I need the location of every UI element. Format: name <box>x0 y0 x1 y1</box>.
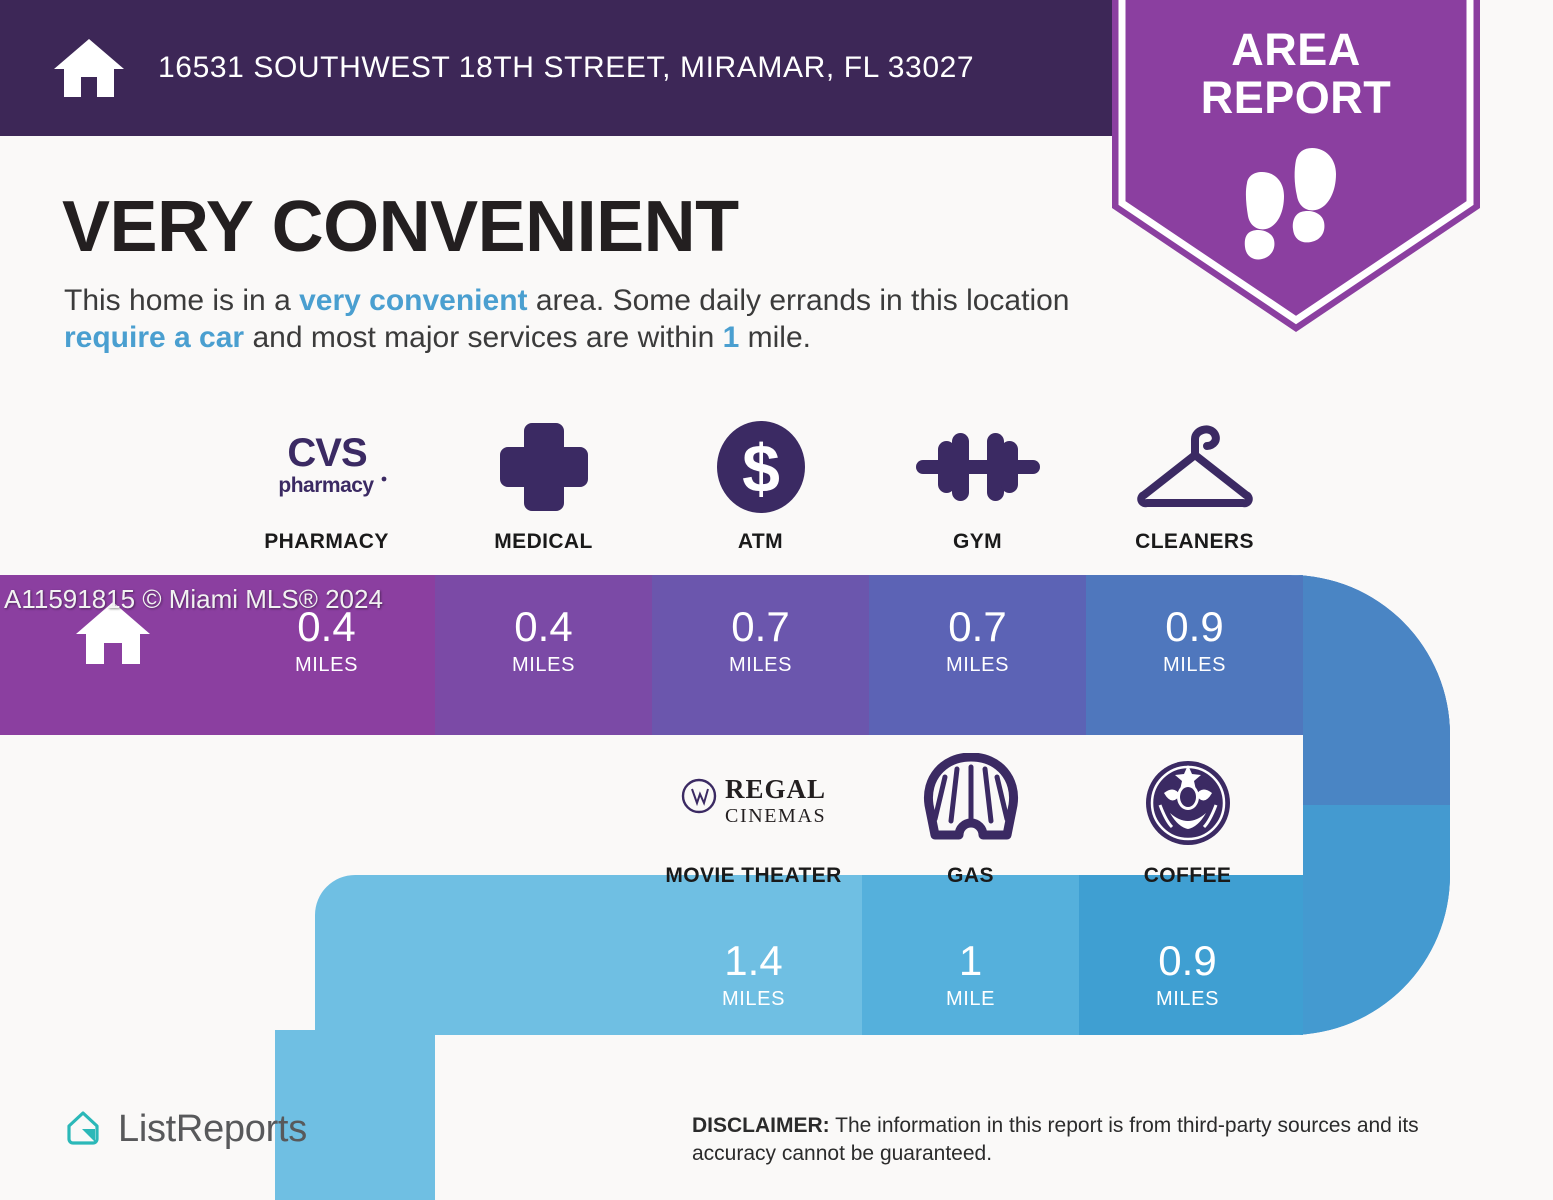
disclaimer-label: DISCLAIMER: <box>692 1114 830 1137</box>
summary-text: This home is in a very convenient area. … <box>64 282 1104 356</box>
header-bar: 16531 SOUTHWEST 18TH STREET, MIRAMAR, FL… <box>0 0 1112 136</box>
amenity-label: MEDICAL <box>494 530 592 554</box>
summary-highlight-2: require a car <box>64 321 244 354</box>
distance-medical: 0.4 MILES <box>435 592 652 690</box>
distance-gym: 0.7 MILES <box>869 592 1086 690</box>
starbucks-logo <box>1140 752 1236 850</box>
amenity-gym: GYM <box>869 418 1086 554</box>
clothes-hanger-icon <box>1134 418 1256 516</box>
summary-part-2: area. Some daily errands in this locatio… <box>528 284 1070 317</box>
area-report-page: 16531 SOUTHWEST 18TH STREET, MIRAMAR, FL… <box>0 0 1553 1200</box>
property-address: 16531 SOUTHWEST 18TH STREET, MIRAMAR, FL… <box>158 51 974 85</box>
amenity-label: GAS <box>947 864 994 888</box>
distance-movie-theater: 1.4 MILES <box>645 926 862 1024</box>
amenity-label: MOVIE THEATER <box>665 864 841 888</box>
distance-value: 0.7 <box>731 606 789 648</box>
amenity-cleaners: CLEANERS <box>1086 418 1303 554</box>
distance-unit: MILES <box>1163 654 1226 677</box>
dollar-circle-icon: $ <box>715 418 807 516</box>
summary-part-3: and most major services are within <box>244 321 723 354</box>
amenity-medical: MEDICAL <box>435 418 652 554</box>
area-report-badge: AREA REPORT <box>1112 0 1480 332</box>
distance-value: 1.4 <box>724 940 782 982</box>
distance-unit: MILES <box>946 654 1009 677</box>
amenity-icon-row-top: CVS pharmacy PHARMACY MEDICAL $ <box>218 418 1303 554</box>
amenity-movie-theater: REGAL CINEMAS MOVIE THEATER <box>645 752 862 888</box>
summary-part-4: mile. <box>739 321 811 354</box>
listreports-house-logo <box>60 1106 106 1152</box>
amenity-label: CLEANERS <box>1135 530 1254 554</box>
distance-row-bottom: 1.4 MILES 1 MILE 0.9 MILES <box>645 926 1296 1024</box>
summary-part-1: This home is in a <box>64 284 299 317</box>
distance-value: 0.4 <box>514 606 572 648</box>
amenity-atm: $ ATM <box>652 418 869 554</box>
distance-coffee: 0.9 MILES <box>1079 926 1296 1024</box>
amenity-label: PHARMACY <box>264 530 389 554</box>
amenity-label: COFFEE <box>1144 864 1232 888</box>
distance-unit: MILES <box>1156 988 1219 1011</box>
segment-turn-bottom <box>435 875 645 1035</box>
svg-text:CVS: CVS <box>287 431 367 475</box>
amenity-label: GYM <box>953 530 1002 554</box>
cvs-pharmacy-logo: CVS pharmacy <box>262 418 392 516</box>
amenity-label: ATM <box>738 530 783 554</box>
house-icon <box>52 37 126 99</box>
amenity-gas: GAS <box>862 752 1079 888</box>
distance-unit: MILES <box>722 988 785 1011</box>
page-title: VERY CONVENIENT <box>62 186 739 268</box>
disclaimer: DISCLAIMER: The information in this repo… <box>692 1112 1492 1167</box>
regal-cinemas-logo: REGAL CINEMAS <box>679 752 829 850</box>
svg-text:$: $ <box>742 431 780 507</box>
distance-value: 0.9 <box>1165 606 1223 648</box>
mls-watermark: A11591815 © Miami MLS® 2024 <box>4 584 383 615</box>
summary-highlight-3: 1 <box>723 321 740 354</box>
amenity-coffee: COFFEE <box>1079 752 1296 888</box>
svg-text:REGAL: REGAL <box>725 774 826 804</box>
distance-cleaners: 0.9 MILES <box>1086 592 1303 690</box>
distance-gas: 1 MILE <box>862 926 1079 1024</box>
distance-unit: MILES <box>512 654 575 677</box>
summary-highlight-1: very convenient <box>299 284 527 317</box>
distance-unit: MILES <box>295 654 358 677</box>
medical-cross-icon <box>496 418 592 516</box>
distance-value: 1 <box>959 940 982 982</box>
distance-value: 0.9 <box>1158 940 1216 982</box>
dumbbell-icon <box>916 418 1040 516</box>
shell-logo <box>921 752 1021 850</box>
amenity-pharmacy: CVS pharmacy PHARMACY <box>218 418 435 554</box>
svg-text:CINEMAS: CINEMAS <box>725 805 826 827</box>
svg-text:pharmacy: pharmacy <box>278 474 374 497</box>
brand-name: ListReports <box>118 1108 307 1151</box>
distance-value: 0.7 <box>948 606 1006 648</box>
distance-unit: MILES <box>729 654 792 677</box>
distance-atm: 0.7 MILES <box>652 592 869 690</box>
amenity-icon-row-bottom: REGAL CINEMAS MOVIE THEATER <box>645 752 1296 888</box>
distance-unit: MILE <box>946 988 995 1011</box>
listreports-brand: ListReports <box>60 1106 307 1152</box>
